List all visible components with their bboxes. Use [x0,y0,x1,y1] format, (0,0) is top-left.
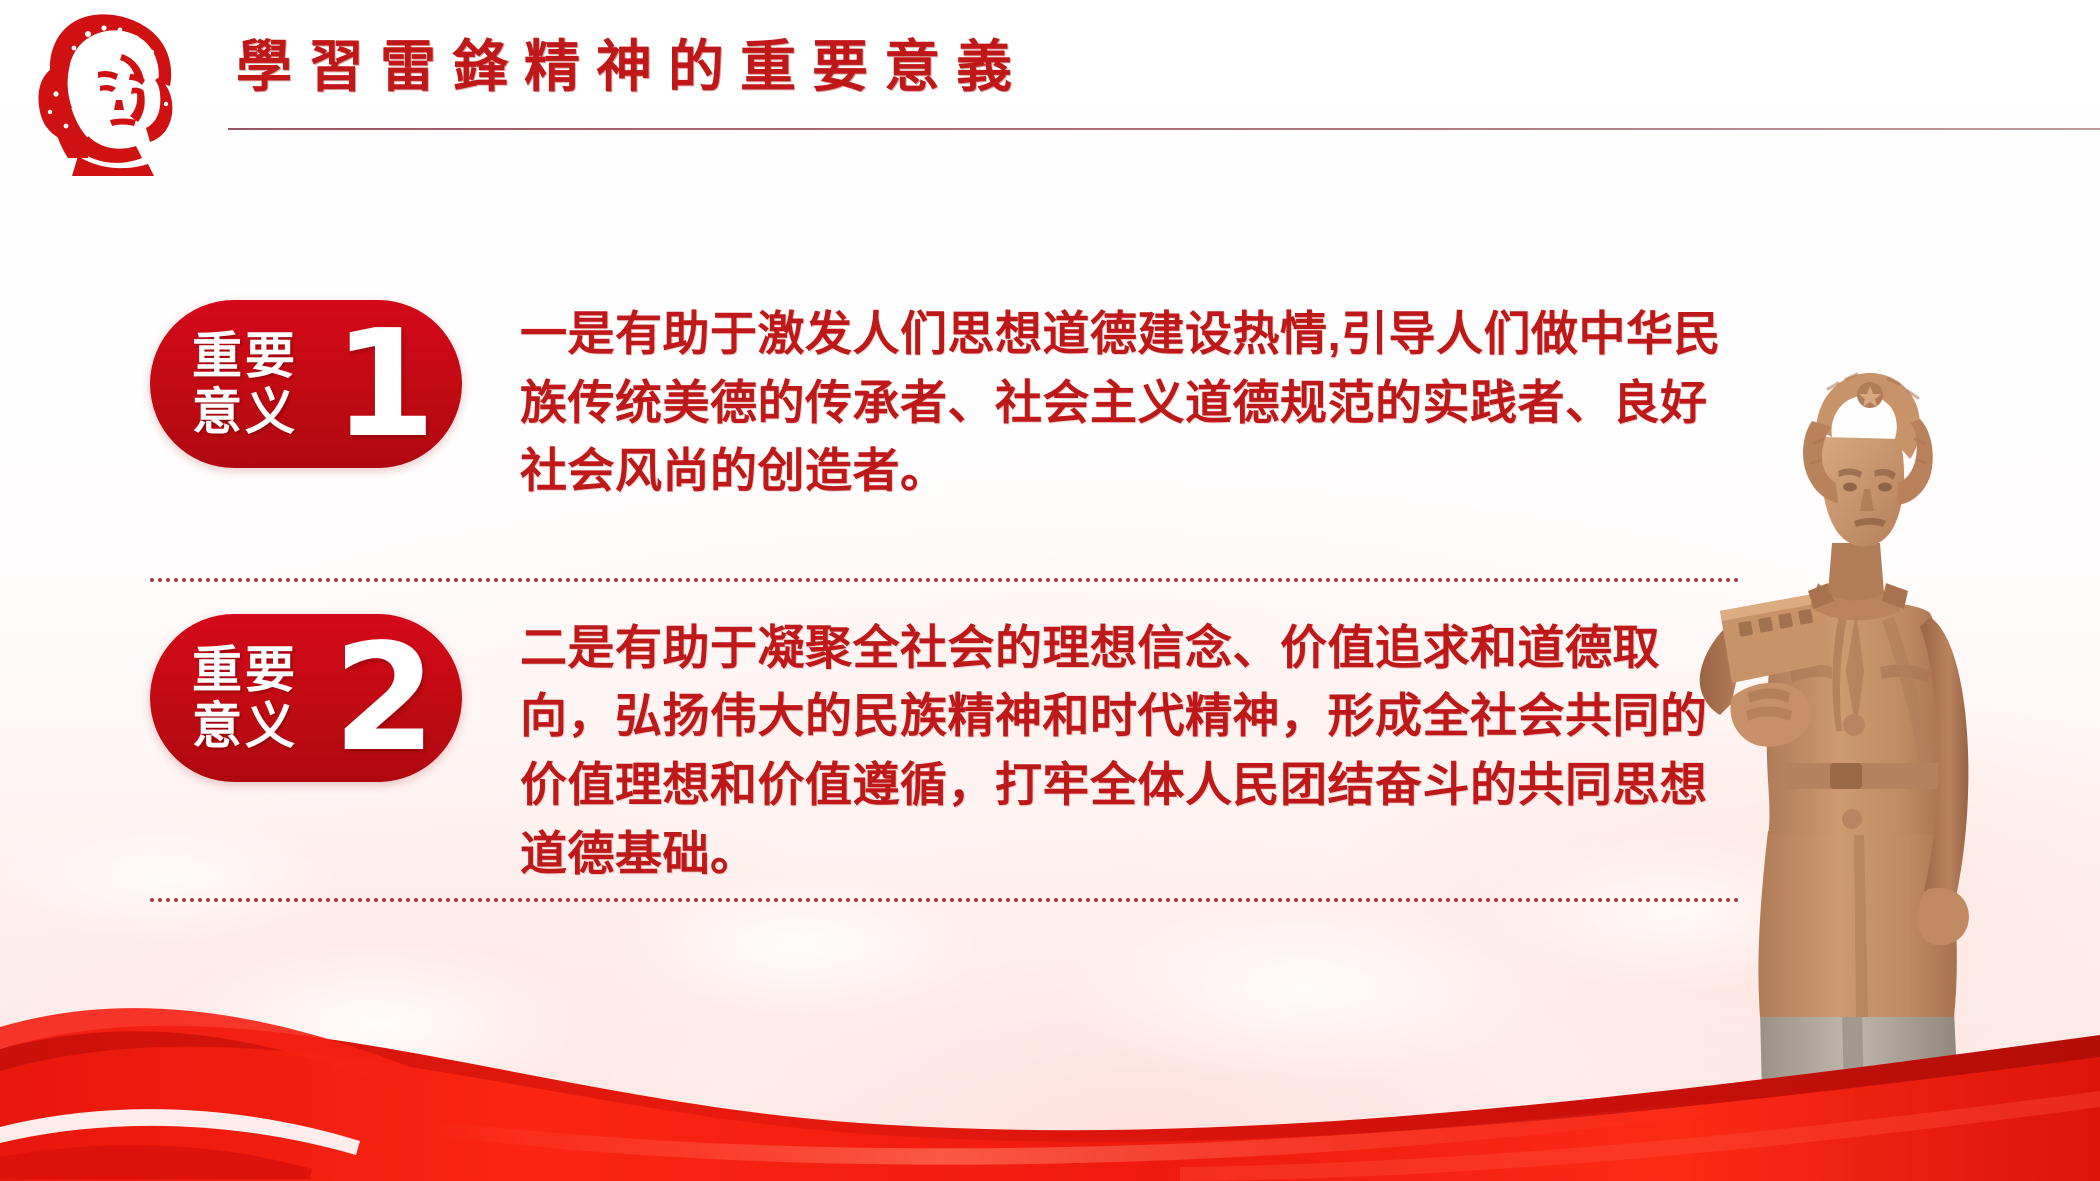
badge-label-line2: 意义 [192,384,298,440]
paragraph-1-text: 一是有助于激发人们思想道德建设热情,引导人们做中华民族传统美德的传承者、社会主义… [520,300,1730,506]
badge-label: 重要 意义 [192,328,298,440]
red-ribbon-icon [0,931,2100,1181]
slide-root: 學習雷鋒精神的重要意義 重要 意义 1 一是有助于激发人们思想道德建设热情,引导… [0,0,2100,1181]
badge-label: 重要 意义 [192,642,298,754]
badge-label-line2: 意义 [192,698,298,754]
badge-important-1[interactable]: 重要 意义 1 [150,300,462,468]
paragraph-2-text: 二是有助于凝聚全社会的理想信念、价值追求和道德取向，弘扬伟大的民族精神和时代精神… [520,614,1730,888]
list-item: 重要 意义 2 二是有助于凝聚全社会的理想信念、价值追求和道德取向，弘扬伟大的民… [0,614,2100,888]
page-title: 學習雷鋒精神的重要意義 [236,22,1028,103]
content-area: 重要 意义 1 一是有助于激发人们思想道德建设热情,引导人们做中华民族传统美德的… [0,300,2100,888]
badge-label-line1: 重要 [192,642,298,698]
paragraph-2: 二是有助于凝聚全社会的理想信念、价值追求和道德取向，弘扬伟大的民族精神和时代精神… [520,614,1730,888]
lei-feng-portrait-icon [26,8,176,176]
slide-header: 學習雷鋒精神的重要意義 [0,0,2100,185]
section-divider-2 [150,898,1740,902]
badge-number: 1 [333,310,436,458]
badge-label-line1: 重要 [192,328,298,384]
badge-number: 2 [333,624,436,772]
paragraph-1: 一是有助于激发人们思想道德建设热情,引导人们做中华民族传统美德的传承者、社会主义… [520,300,1730,506]
header-divider [228,128,2100,130]
list-item: 重要 意义 1 一是有助于激发人们思想道德建设热情,引导人们做中华民族传统美德的… [0,300,2100,506]
badge-important-2[interactable]: 重要 意义 2 [150,614,462,782]
section-divider-1 [150,578,1740,582]
